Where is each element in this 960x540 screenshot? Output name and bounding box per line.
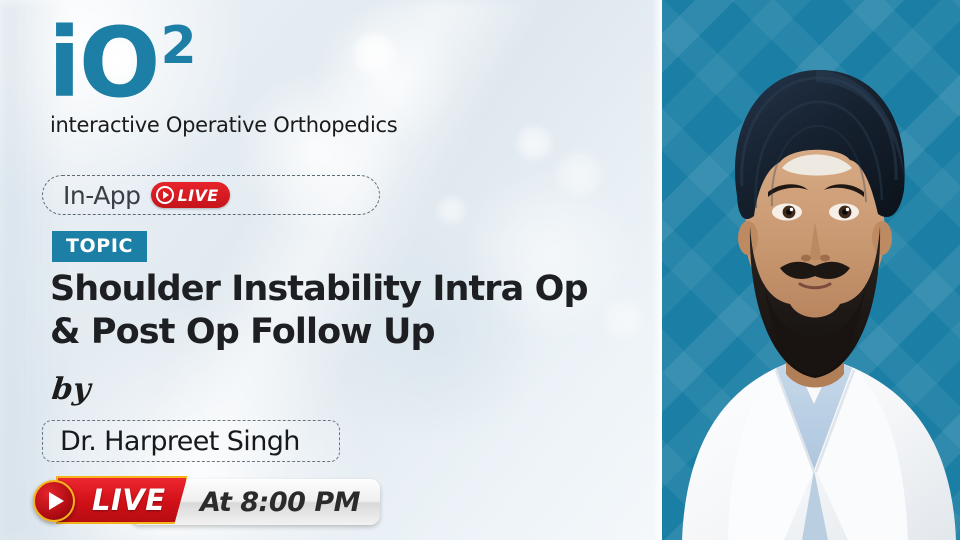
topic-badge: TOPIC — [52, 231, 147, 262]
speaker-portrait — [664, 0, 960, 540]
logo-superscript: 2 — [161, 20, 195, 72]
session-title: Shoulder Instability Intra Op & Post Op … — [50, 268, 650, 353]
speaker-name: Dr. Harpreet Singh — [60, 426, 300, 457]
play-icon-large — [33, 480, 75, 522]
schedule-time: At 8:00 PM — [200, 487, 360, 518]
speaker-name-box: Dr. Harpreet Singh — [42, 420, 340, 462]
by-label: by — [50, 372, 92, 407]
session-title-line-2: & Post Op Follow Up — [50, 311, 650, 354]
brand-logo: iO 2 interactive Operative Orthopedics — [48, 18, 397, 137]
live-pill-label: LIVE — [178, 186, 219, 205]
panel-edge-gradient — [652, 0, 662, 540]
in-app-label: In-App — [63, 181, 141, 210]
bokeh-highlight — [516, 126, 552, 160]
play-icon — [156, 186, 174, 204]
bokeh-highlight — [556, 152, 602, 196]
live-badge-label: LIVE — [92, 483, 166, 517]
logo-mark: iO 2 — [48, 18, 397, 109]
live-badge-large: LIVE — [56, 476, 188, 524]
logo-text: iO — [48, 18, 159, 109]
session-title-line-1: Shoulder Instability Intra Op — [50, 268, 650, 311]
live-pill-small: LIVE — [151, 182, 230, 208]
brand-tagline: interactive Operative Orthopedics — [50, 113, 397, 137]
bokeh-highlight — [436, 196, 466, 224]
in-app-live-badge: In-App LIVE — [42, 175, 380, 215]
webinar-promo-banner: iO 2 interactive Operative Orthopedics I… — [0, 0, 960, 540]
